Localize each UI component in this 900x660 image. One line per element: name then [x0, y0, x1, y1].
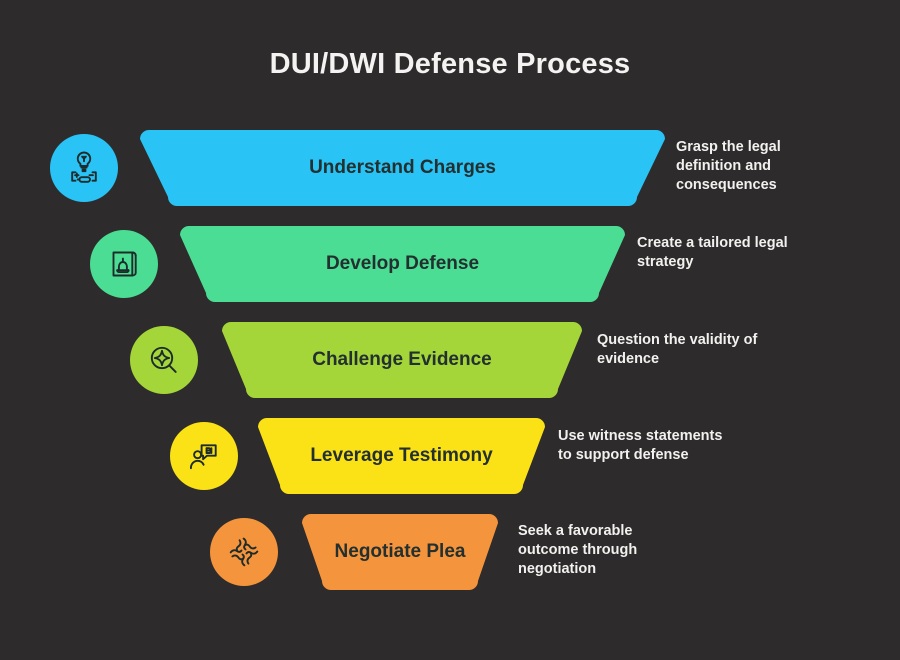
funnel-stage-3[interactable]: Challenge EvidenceQuestion the validity …	[0, 322, 900, 418]
funnel-bar-4[interactable]	[258, 418, 545, 494]
funnel-stage-description-3: Question the validity of evidence	[597, 331, 762, 369]
funnel-stage-4[interactable]: Leverage TestimonyUse witness statements…	[0, 418, 900, 514]
funnel-stage-description-2: Create a tailored legal strategy	[637, 234, 797, 272]
funnel-bar-3[interactable]	[222, 322, 582, 398]
funnel-stage-description-4: Use witness statements to support defens…	[558, 427, 728, 465]
witness-speech-icon	[170, 422, 238, 490]
negotiation-swirl-icon	[210, 518, 278, 586]
magnifier-sparkle-icon	[130, 326, 198, 394]
funnel-bar-1[interactable]	[140, 130, 665, 206]
funnel-bar-2[interactable]	[180, 226, 625, 302]
lightbulb-battery-icon	[50, 134, 118, 202]
page-title: DUI/DWI Defense Process	[0, 48, 900, 81]
funnel-bar-5[interactable]	[302, 514, 498, 590]
infographic-page: DUI/DWI Defense Process Understand Charg…	[0, 0, 900, 660]
funnel-stage-description-1: Grasp the legal definition and consequen…	[676, 138, 796, 195]
funnel-stage-1[interactable]: Understand ChargesGrasp the legal defini…	[0, 130, 900, 226]
funnel-stage-2[interactable]: Develop DefenseCreate a tailored legal s…	[0, 226, 900, 322]
funnel-stage-description-5: Seek a favorable outcome through negotia…	[518, 522, 663, 579]
blueprint-helmet-icon	[90, 230, 158, 298]
funnel-stage-5[interactable]: Negotiate PleaSeek a favorable outcome t…	[0, 514, 900, 610]
